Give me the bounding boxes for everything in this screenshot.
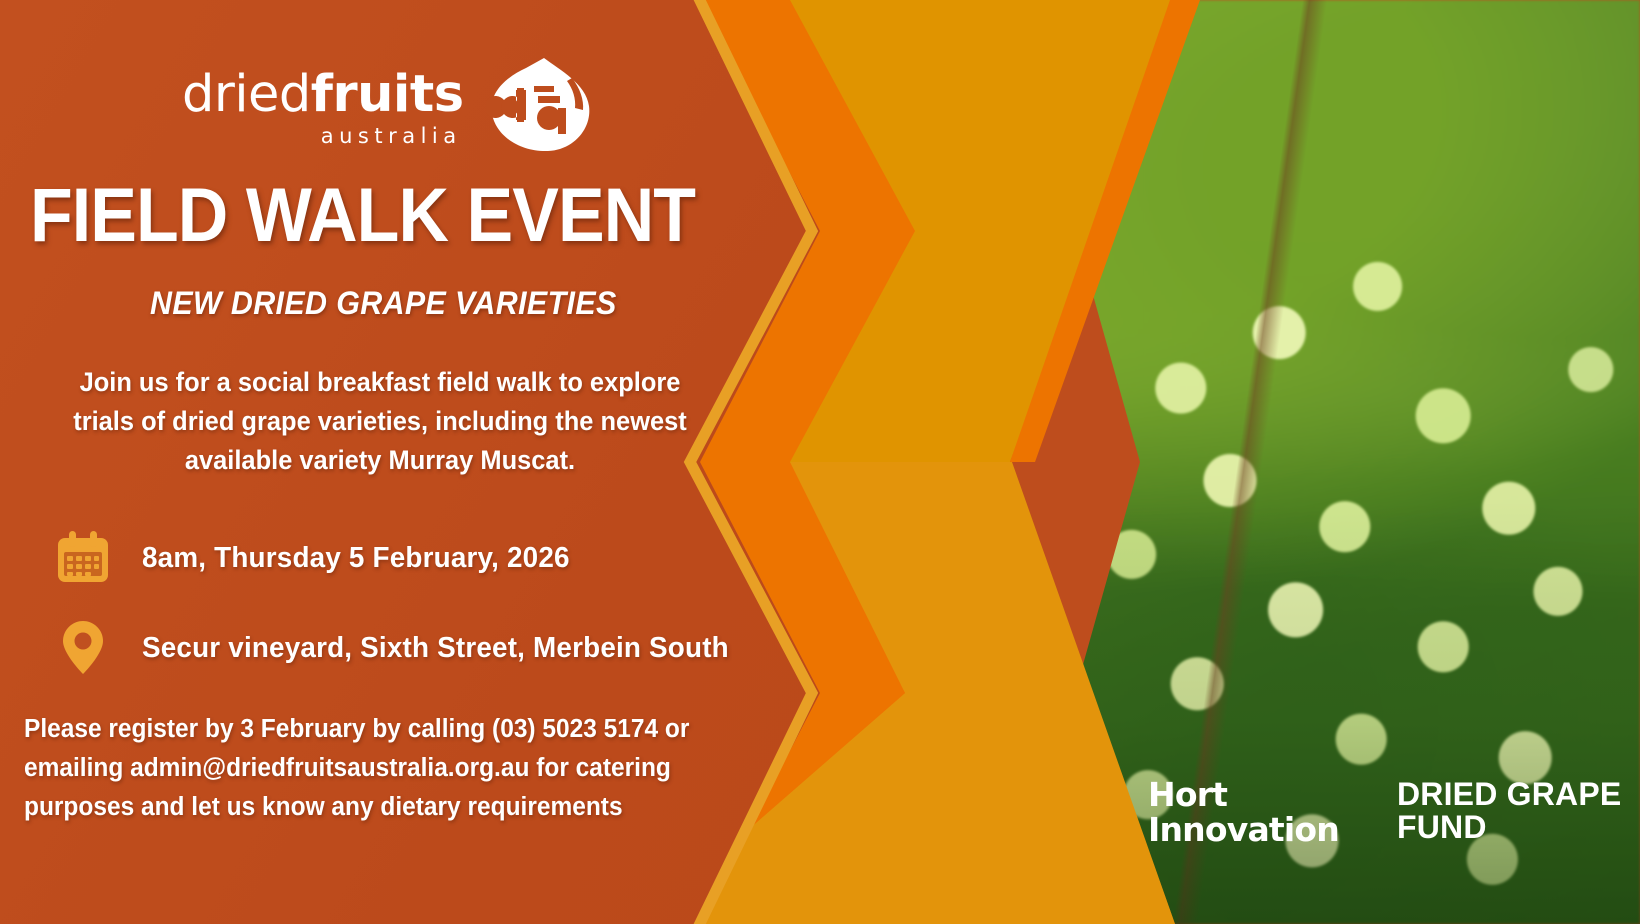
registration-instructions: Please register by 3 February by calling… — [24, 710, 696, 826]
event-date-text: 8am, Thursday 5 February, 2026 — [142, 542, 570, 575]
location-pin-icon — [52, 620, 114, 676]
dried-grape-fund-logo: DRIED GRAPE FUND — [1397, 778, 1621, 845]
hort-logo-line2: Innovation — [1148, 813, 1339, 846]
poster-canvas: driedfruits australia FIELD WALK EVENT — [0, 0, 1640, 924]
event-location-text: Secur vineyard, Sixth Street, Merbein So… — [142, 632, 729, 665]
page-subtitle: NEW DRIED GRAPE VARIETIES — [150, 285, 617, 322]
dried-fruits-australia-logo[interactable]: driedfruits australia — [182, 60, 594, 159]
poster-content: driedfruits australia FIELD WALK EVENT — [0, 0, 760, 924]
calendar-icon — [52, 530, 114, 586]
fund-logo-line2: FUND — [1397, 811, 1621, 844]
logo-main-line: driedfruits — [182, 71, 464, 119]
fund-logo-line1: DRIED GRAPE — [1397, 776, 1621, 812]
event-description: Join us for a social breakfast field wal… — [63, 363, 697, 481]
logo-subtitle-australia: australia — [321, 124, 462, 148]
logo-word-dried: dried — [182, 65, 311, 124]
hort-innovation-logo: Hort Innovation — [1148, 778, 1339, 846]
logo-wordmark: driedfruits australia — [182, 71, 464, 147]
hort-logo-line1: Hort — [1148, 775, 1227, 814]
partner-logos: Hort Innovation DRIED GRAPE FUND — [1148, 778, 1621, 846]
page-title: FIELD WALK EVENT — [30, 178, 695, 254]
dfa-monogram-icon — [486, 56, 594, 159]
event-location-row: Secur vineyard, Sixth Street, Merbein So… — [52, 620, 753, 676]
logo-word-fruits: fruits — [311, 65, 464, 124]
event-date-row: 8am, Thursday 5 February, 2026 — [52, 530, 588, 586]
